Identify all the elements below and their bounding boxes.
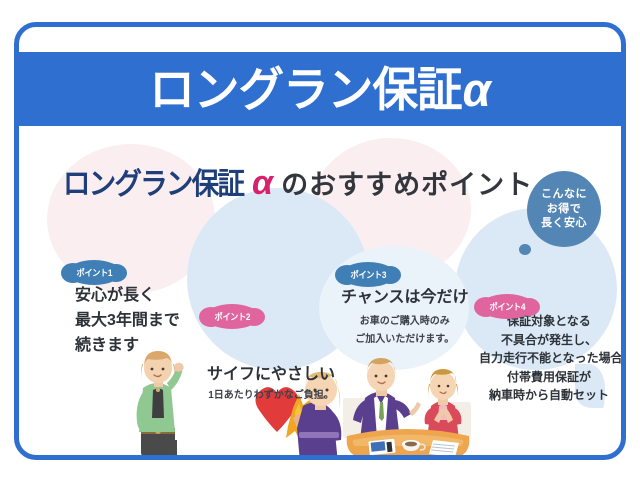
point-2-subtext-line-1: 1日あたりわずかなご負担。 [207,388,335,403]
point-1-headline-line-3: 続きます [75,334,180,359]
point-3-headline-line-1: チャンスは今だけ [341,286,469,311]
advertisement-banner: ロングラン保証α ロングラン保証αのおすすめポイント こんなに お得で 長く安心… [0,0,640,480]
illustration-two-people-at-table [335,354,481,455]
point-2-badge-label: ポイント2 [214,310,249,323]
thought-bubble-line-2: お得で [547,202,582,217]
headline-alpha: α [251,164,275,202]
banner-title-main: ロングラン保証 [150,63,462,116]
content-canvas: ロングラン保証αのおすすめポイント こんなに お得で 長く安心 ポイント1 安心… [19,126,621,455]
point-4-headline-line-2: 不具合が発生し、 [479,331,619,350]
title-band: ロングラン保証α [19,52,621,126]
banner-title-alpha: α [462,63,490,116]
point-4-badge: ポイント4 [480,294,534,319]
thought-bubble-dot [519,244,531,255]
point-4-headline-line-3: 自力走行不能となった場合 [479,349,619,368]
point-4-text: 保証対象となる 不具合が発生し、 自力走行不能となった場合 付帯費用保証が 納車… [479,312,619,405]
point-1-headline-line-2: 最大3年間まで [75,309,180,334]
headline-brand: ロングラン保証 [63,170,243,200]
point-3-badge: ポイント3 [341,262,395,287]
point-2-badge: ポイント2 [205,304,259,329]
point-3-subtext-line-1: お車のご購入時のみ [341,311,469,329]
point-2-headline-line-1: サイフにやさしい [207,363,335,388]
background-blob-pink-center [311,138,471,280]
point-1-headline-line-1: 安心が長く [75,284,180,309]
illustration-woman-green-cardigan [115,344,193,455]
headline: ロングラン保証αのおすすめポイント [55,166,533,200]
point-4-headline-line-5: 納車時から自動セット [479,386,619,405]
thought-bubble-line-1: こんなに [541,187,587,202]
point-2-text: サイフにやさしい 1日あたりわずかなご負担。 [207,363,335,403]
thought-bubble: こんなに お得で 長く安心 [527,171,601,247]
point-1-badge-label: ポイント1 [76,266,111,279]
point-3-subtext-line-2: ご加入いただけます。 [341,329,469,347]
blue-rounded-frame: ロングラン保証α ロングラン保証αのおすすめポイント こんなに お得で 長く安心… [14,22,626,460]
banner-title: ロングラン保証α [150,66,491,113]
headline-rest: のおすすめポイント [275,170,533,200]
point-1-text: 安心が長く 最大3年間まで 続きます [75,284,180,358]
point-3-badge-label: ポイント3 [350,268,385,281]
point-1-badge: ポイント1 [67,260,121,285]
point-4-badge-label: ポイント4 [489,300,524,313]
point-3-text: チャンスは今だけ お車のご購入時のみ ご加入いただけます。 [341,286,469,347]
point-4-headline-line-4: 付帯費用保証が [479,368,619,387]
thought-bubble-line-3: 長く安心 [541,216,587,231]
